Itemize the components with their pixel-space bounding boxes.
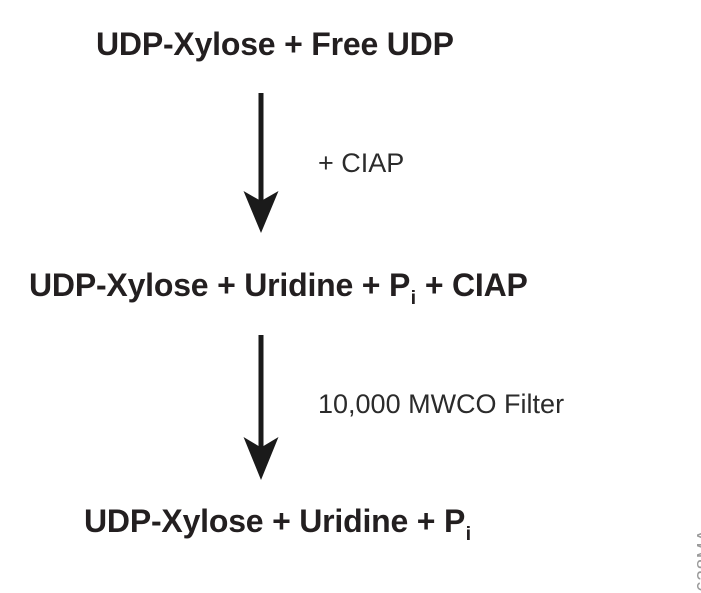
reaction-arrow-1 (238, 93, 304, 233)
reaction-condition-2: 10,000 MWCO Filter (318, 391, 564, 418)
reaction-condition-1: + CIAP (318, 150, 404, 177)
species-label-top: UDP-Xylose + Free UDP (96, 28, 454, 60)
species-mid-suffix: + CIAP (416, 267, 528, 303)
species-top-text: UDP-Xylose + Free UDP (96, 26, 454, 62)
reaction-arrow-2 (238, 335, 304, 480)
species-mid-subscript: i (410, 287, 416, 309)
species-label-middle: UDP-Xylose + Uridine + Pi + CIAP (29, 269, 528, 301)
species-label-bottom: UDP-Xylose + Uridine + Pi (84, 505, 471, 537)
species-bottom-prefix: UDP-Xylose + Uridine + P (84, 503, 465, 539)
diagram-canvas: UDP-Xylose + Free UDP + CIAP UDP-Xylose … (0, 0, 701, 593)
species-mid-prefix: UDP-Xylose + Uridine + P (29, 267, 410, 303)
species-bottom-subscript: i (465, 523, 471, 545)
catalog-code-label: 13638MA (695, 529, 701, 593)
